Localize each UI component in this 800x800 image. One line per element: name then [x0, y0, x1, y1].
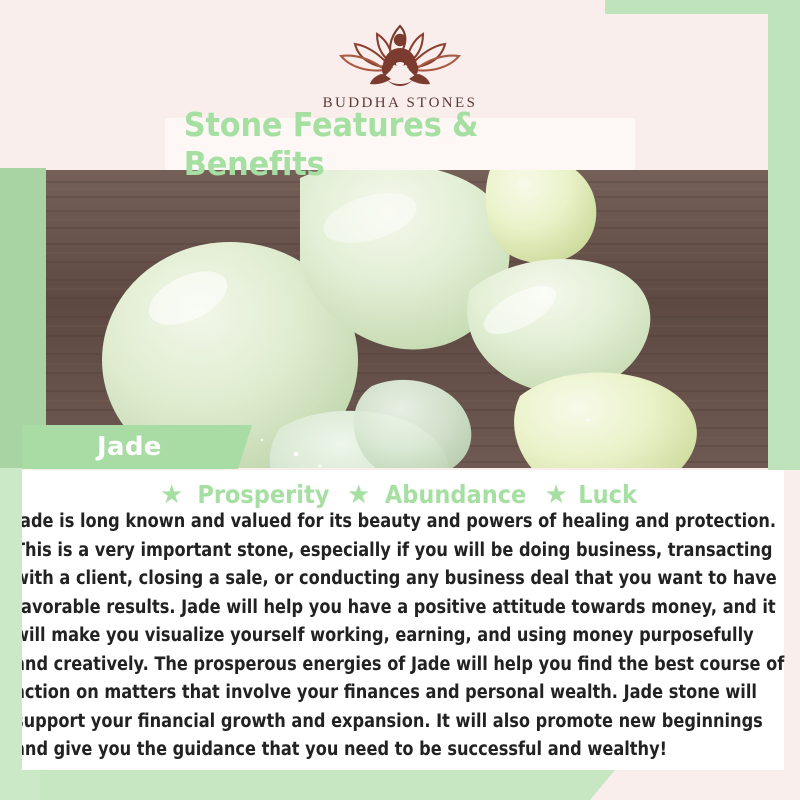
- star-icon: ★: [545, 481, 568, 507]
- keyword-label: Luck: [578, 480, 637, 509]
- keyword-list: ★ Prosperity ★ Abundance ★ Luck: [0, 478, 800, 510]
- keyword-item-abundance: ★ Abundance: [347, 480, 535, 509]
- brand-logo: BUDDHA STONES: [0, 18, 800, 112]
- description-block: Jade is long known and valued for its be…: [14, 508, 792, 765]
- keyword-label: Abundance: [385, 480, 526, 509]
- frame-accent-left-lower: [0, 468, 22, 788]
- page-title: Stone Features & Benefits: [184, 105, 616, 183]
- jade-stones-image: [0, 170, 768, 468]
- page-title-banner: Stone Features & Benefits: [165, 118, 635, 170]
- keyword-item-prosperity: ★ Prosperity: [160, 480, 337, 509]
- star-icon: ★: [160, 481, 183, 507]
- frame-accent-left: [0, 168, 46, 468]
- keyword-label: Prosperity: [198, 480, 330, 509]
- stone-name-banner: Jade: [22, 425, 252, 469]
- lotus-meditation-icon: [325, 18, 475, 90]
- description-text: Jade is long known and valued for its be…: [14, 508, 792, 765]
- star-icon: ★: [347, 481, 370, 507]
- stone-name-label: Jade: [97, 432, 162, 462]
- keyword-item-luck: ★ Luck: [545, 480, 641, 509]
- stone-photo: [0, 170, 768, 468]
